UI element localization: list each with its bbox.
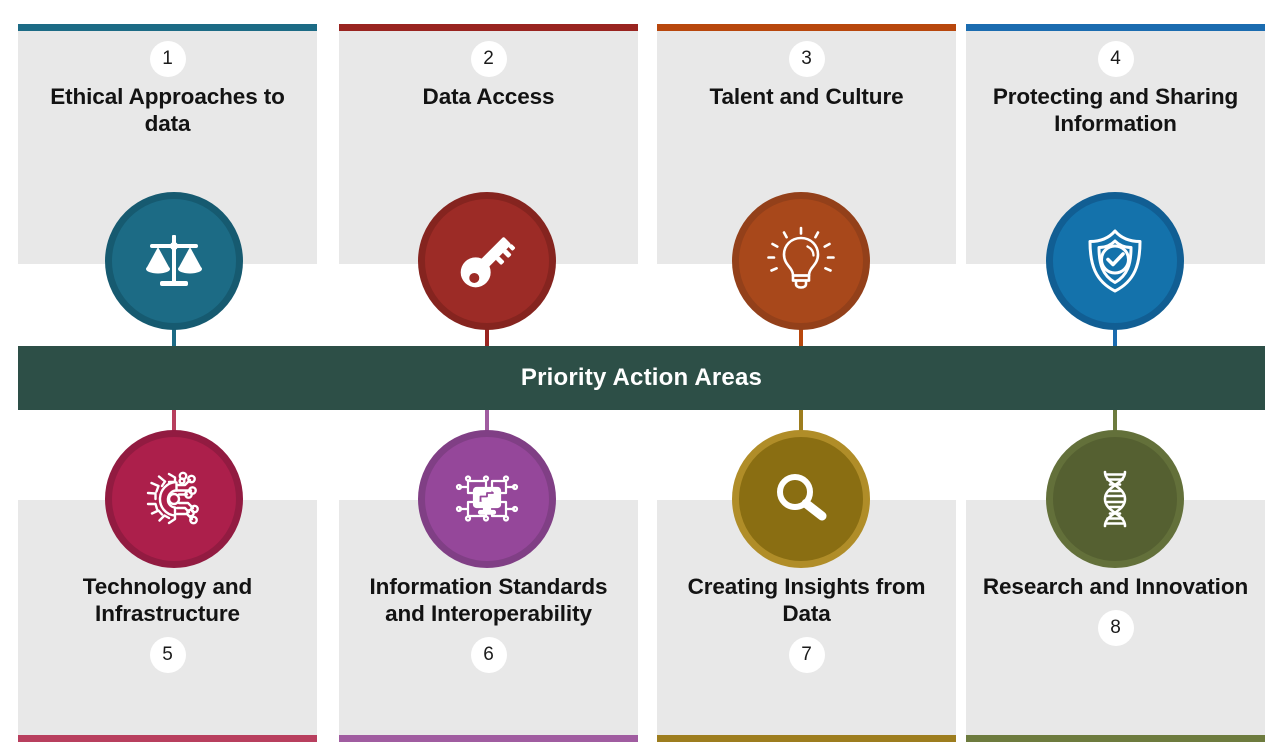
panel-accent-bar xyxy=(18,735,317,742)
panel-title: Technology and Infrastructure xyxy=(18,573,317,627)
panel-body: 1Ethical Approaches to data xyxy=(18,41,317,137)
icon-circle-6[interactable] xyxy=(418,430,556,568)
panel-title: Creating Insights from Data xyxy=(657,573,956,627)
panel-body: 3Talent and Culture xyxy=(657,41,956,110)
magnifier-icon xyxy=(765,463,837,535)
panel-body: 2Data Access xyxy=(339,41,638,110)
priority-action-areas-banner: Priority Action Areas xyxy=(18,346,1265,410)
panel-accent-bar xyxy=(657,24,956,31)
panel-accent-bar xyxy=(339,735,638,742)
panel-number-badge: 4 xyxy=(1098,41,1134,77)
gear-circuit-icon xyxy=(135,460,213,538)
icon-circle-2[interactable] xyxy=(418,192,556,330)
panel-number-badge: 3 xyxy=(789,41,825,77)
icon-circle-4[interactable] xyxy=(1046,192,1184,330)
infographic-canvas: 1Ethical Approaches to data 2Data Access xyxy=(0,0,1283,755)
panel-accent-bar xyxy=(966,735,1265,742)
panel-title: Talent and Culture xyxy=(657,83,956,110)
lightbulb-icon xyxy=(764,224,838,298)
icon-circle-8[interactable] xyxy=(1046,430,1184,568)
dna-icon xyxy=(1080,464,1150,534)
panel-title: Data Access xyxy=(339,83,638,110)
shield-check-icon xyxy=(1078,224,1152,298)
panel-title: Ethical Approaches to data xyxy=(18,83,317,137)
panel-title: Research and Innovation xyxy=(966,573,1265,600)
panel-body: 4Protecting and Sharing Information xyxy=(966,41,1265,137)
panel-body: Research and Innovation8 xyxy=(966,573,1265,646)
scales-icon xyxy=(138,225,210,297)
panel-accent-bar xyxy=(966,24,1265,31)
panel-number-badge: 6 xyxy=(471,637,507,673)
panel-number-badge: 1 xyxy=(150,41,186,77)
panel-number-badge: 7 xyxy=(789,637,825,673)
icon-circle-1[interactable] xyxy=(105,192,243,330)
icon-circle-5[interactable] xyxy=(105,430,243,568)
panel-body: Information Standards and Interoperabili… xyxy=(339,573,638,673)
network-monitor-icon xyxy=(448,460,526,538)
banner-title: Priority Action Areas xyxy=(521,364,762,392)
icon-circle-3[interactable] xyxy=(732,192,870,330)
panel-number-badge: 8 xyxy=(1098,610,1134,646)
panel-title: Information Standards and Interoperabili… xyxy=(339,573,638,627)
panel-number-badge: 5 xyxy=(150,637,186,673)
panel-body: Technology and Infrastructure5 xyxy=(18,573,317,673)
panel-title: Protecting and Sharing Information xyxy=(966,83,1265,137)
panel-body: Creating Insights from Data7 xyxy=(657,573,956,673)
panel-number-badge: 2 xyxy=(471,41,507,77)
key-icon xyxy=(449,223,525,299)
panel-accent-bar xyxy=(657,735,956,742)
panel-accent-bar xyxy=(339,24,638,31)
panel-accent-bar xyxy=(18,24,317,31)
icon-circle-7[interactable] xyxy=(732,430,870,568)
